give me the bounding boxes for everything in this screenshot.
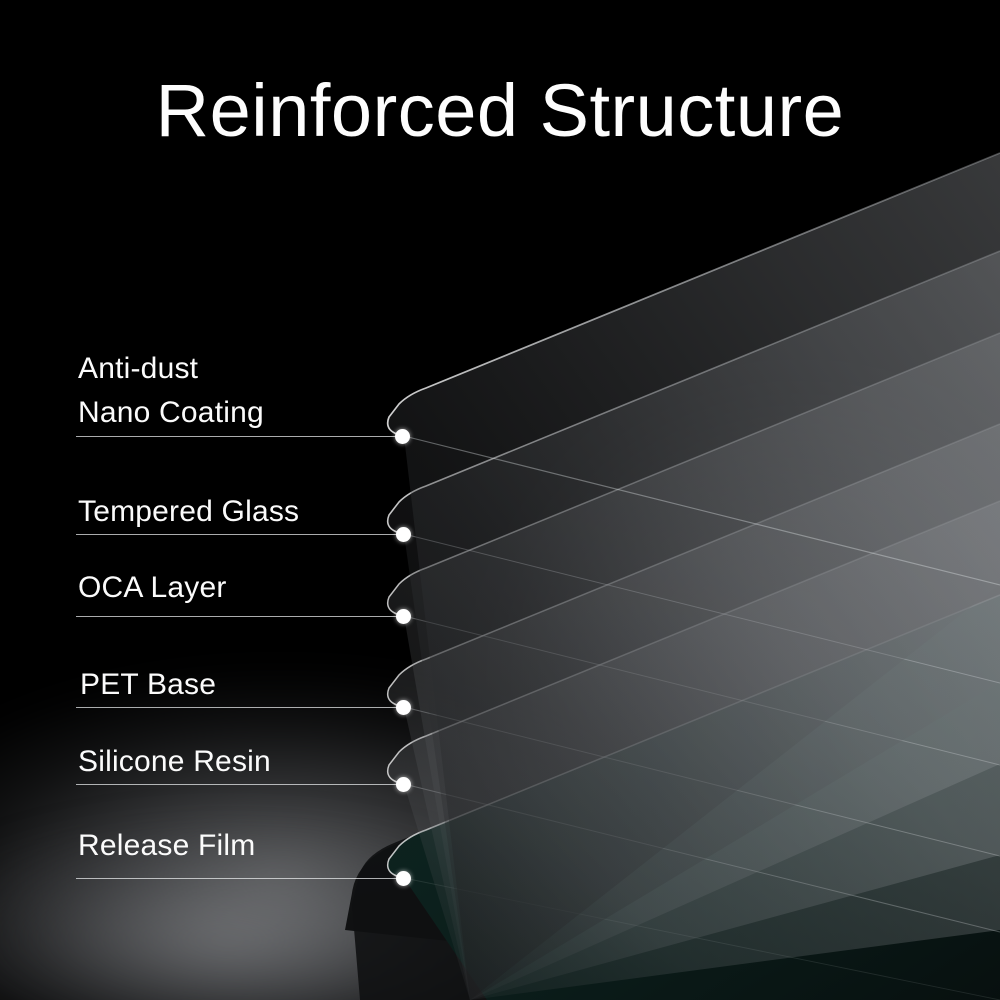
page-title: Reinforced Structure [0,74,1000,148]
screen-protector-structure-infographic: Reinforced Structure Anti-dustNano Coati… [0,0,1000,1000]
callout-label-anti-dust-nano-coating: Anti-dustNano Coating [78,347,264,435]
callout-label-pet-base: PET Base [80,663,216,707]
callout-dot-pet-base[interactable] [396,700,411,715]
callout-label-line: Release Film [78,824,255,868]
callout-label-line: Anti-dust [78,347,264,391]
callout-label-line: Nano Coating [78,391,264,435]
callout-dot-anti-dust-nano-coating[interactable] [395,429,410,444]
callout-dot-release-film[interactable] [396,871,411,886]
callout-dot-tempered-glass[interactable] [396,527,411,542]
callout-label-line: PET Base [80,663,216,707]
callout-label-release-film: Release Film [78,824,255,868]
callout-label-tempered-glass: Tempered Glass [78,490,299,534]
leader-line-release-film [76,878,397,879]
leader-line-silicone-resin [76,784,397,785]
callout-label-line: Tempered Glass [78,490,299,534]
leader-line-anti-dust-nano-coating [76,436,396,437]
callout-dot-silicone-resin[interactable] [396,777,411,792]
callout-dot-oca-layer[interactable] [396,609,411,624]
callout-label-line: OCA Layer [78,566,227,610]
callout-label-line: Silicone Resin [78,740,271,784]
leader-line-tempered-glass [76,534,397,535]
callout-label-silicone-resin: Silicone Resin [78,740,271,784]
leader-line-pet-base [76,707,397,708]
callout-label-oca-layer: OCA Layer [78,566,227,610]
leader-line-oca-layer [76,616,397,617]
